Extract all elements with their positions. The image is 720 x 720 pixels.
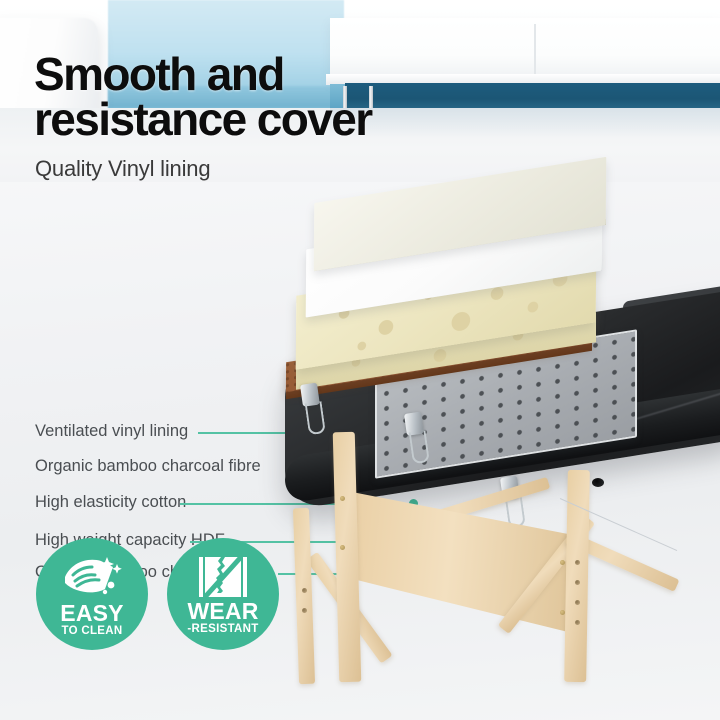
height-adjust-hole: [575, 620, 580, 625]
frame-screw: [560, 610, 565, 615]
page-title: Smooth and resistance cover: [34, 52, 494, 142]
product-feature-image: Smooth and resistance cover Quality Viny…: [0, 0, 720, 720]
wiping-hand-sparkle-icon: [61, 555, 123, 599]
height-adjust-hole: [575, 560, 580, 565]
cabinet-seam: [534, 24, 536, 76]
exploded-layer-stack: [300, 180, 630, 410]
feature-label-ventilated-vinyl-lining: Ventilated vinyl lining: [35, 422, 188, 441]
badge-subtitle: TO CLEAN: [36, 625, 148, 637]
height-adjust-hole: [575, 580, 580, 585]
badge-easy-to-clean: EASY TO CLEAN: [36, 538, 148, 650]
height-adjust-hole: [575, 600, 580, 605]
height-adjust-hole: [302, 608, 307, 613]
frame-screw: [560, 560, 565, 565]
feature-label-elasticity-cotton: High elasticity cotton: [35, 493, 186, 512]
no-tear-icon: [195, 555, 251, 599]
badge-wear-resistant: WEAR -RESISTANT: [167, 538, 279, 650]
badge-title: EASY: [36, 600, 148, 627]
badge-title: WEAR: [167, 598, 279, 625]
page-subtitle: Quality Vinyl lining: [35, 156, 210, 182]
table-air-hole: [592, 478, 604, 487]
layer-ventilated-vinyl: [314, 180, 606, 248]
headline-line-2: resistance cover: [34, 97, 494, 142]
feature-label-bamboo-charcoal-fibre: Organic bamboo charcoal fibre: [35, 457, 261, 476]
badge-subtitle: -RESISTANT: [167, 623, 279, 635]
height-adjust-hole: [302, 588, 307, 593]
frame-screw: [340, 496, 345, 501]
frame-screw: [340, 545, 345, 550]
